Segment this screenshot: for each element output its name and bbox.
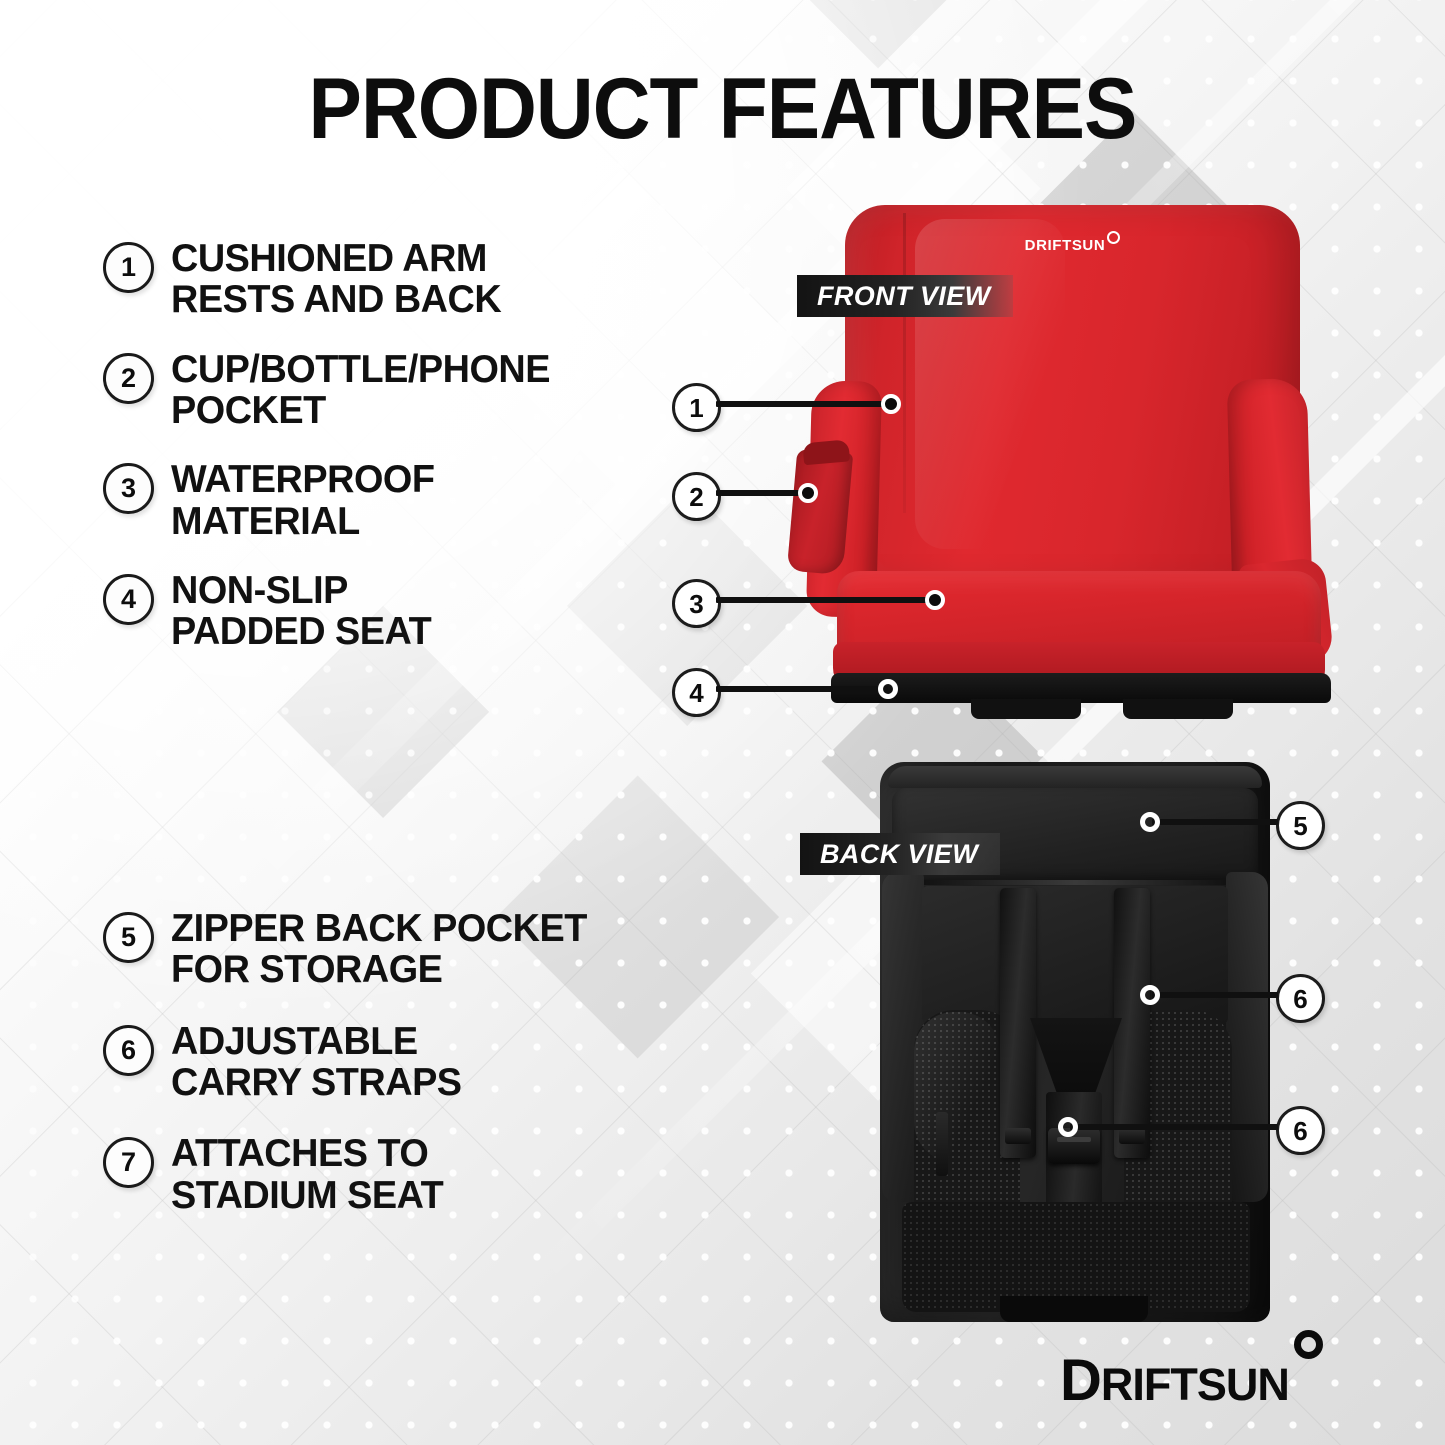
callout-endpoint-ring [1140, 812, 1160, 832]
callout-endpoint-dot [925, 590, 945, 610]
callout-leader-line [1152, 819, 1278, 825]
callout-number: 5 [1276, 801, 1325, 850]
feature-number-badge: 3 [103, 463, 154, 514]
callout-endpoint-dot [798, 483, 818, 503]
feature-label: NON-SLIP PADDED SEAT [171, 570, 431, 653]
callout-number: 6 [1276, 974, 1325, 1023]
feature-item: 7 ATTACHES TO STADIUM SEAT [103, 1133, 723, 1216]
bag-bottom-tab [1000, 1296, 1148, 1322]
callout-leader-line [716, 490, 808, 496]
bag-carry-strap-left [1000, 888, 1036, 1158]
page-title: PRODUCT FEATURES [51, 66, 1395, 152]
brand-logo-text: DRIFTSUN [1060, 1352, 1289, 1410]
bag-top-flap [888, 766, 1262, 788]
callout-endpoint-ring [878, 679, 898, 699]
brand-logo: DRIFTSUN [1060, 1352, 1323, 1410]
chair-foot [1123, 699, 1233, 719]
feature-number-badge: 5 [103, 912, 154, 963]
callout-leader-line [1152, 992, 1278, 998]
feature-label: WATERPROOF MATERIAL [171, 459, 434, 542]
feature-item: 5 ZIPPER BACK POCKET FOR STORAGE [103, 908, 723, 991]
feature-item: 6 ADJUSTABLE CARRY STRAPS [103, 1021, 723, 1104]
callout-number: 1 [672, 383, 721, 432]
infographic-canvas: PRODUCT FEATURES 1 CUSHIONED ARM RESTS A… [0, 0, 1445, 1445]
callout-leader-line [1070, 1124, 1278, 1130]
callout-leader-line [716, 401, 891, 407]
feature-list-bottom: 5 ZIPPER BACK POCKET FOR STORAGE 6 ADJUS… [103, 908, 723, 1246]
bag-side-right [1226, 872, 1268, 1202]
bag-strap-adjuster-right [1119, 1128, 1145, 1144]
feature-item: 3 WATERPROOF MATERIAL [103, 459, 703, 542]
callout-number: 4 [672, 668, 721, 717]
chair-foot [971, 699, 1081, 719]
bag-middle-panel [922, 886, 1228, 1024]
product-logo-on-chair: DRIFTSUN [845, 231, 1300, 254]
feature-number-badge: 6 [103, 1025, 154, 1076]
chair-cup-pocket [787, 449, 853, 575]
feature-item: 2 CUP/BOTTLE/PHONE POCKET [103, 349, 703, 432]
callout-endpoint-ring [1140, 985, 1160, 1005]
callout-number: 2 [672, 472, 721, 521]
callout-number: 3 [672, 579, 721, 628]
backrest-highlight [915, 219, 1065, 549]
feature-label: CUP/BOTTLE/PHONE POCKET [171, 349, 550, 432]
feature-list-top: 1 CUSHIONED ARM RESTS AND BACK 2 CUP/BOT… [103, 238, 703, 681]
bag-highlight [914, 1012, 1000, 1162]
callout-endpoint-dot [881, 394, 901, 414]
feature-label: ZIPPER BACK POCKET FOR STORAGE [171, 908, 587, 991]
product-logo-text: DRIFTSUN [1025, 237, 1106, 254]
bag-zipper-pull [936, 1112, 948, 1176]
feature-label: ATTACHES TO STADIUM SEAT [171, 1133, 443, 1216]
front-view-banner: FRONT VIEW [797, 275, 1013, 317]
feature-label: CUSHIONED ARM RESTS AND BACK [171, 238, 501, 321]
bag-strap-adjuster-left [1005, 1128, 1031, 1144]
feature-number-badge: 2 [103, 353, 154, 404]
feature-label: ADJUSTABLE CARRY STRAPS [171, 1021, 462, 1104]
callout-leader-line [716, 597, 935, 603]
back-view-banner: BACK VIEW [800, 833, 1000, 875]
feature-number-badge: 7 [103, 1137, 154, 1188]
brand-name-rest: RIFTSUN [1101, 1359, 1289, 1410]
ring-mark-icon [1107, 231, 1120, 244]
ring-mark-icon [1294, 1330, 1323, 1359]
callout-leader-line [716, 686, 888, 692]
chair-base [831, 673, 1331, 703]
brand-initial: D [1060, 1348, 1101, 1413]
feature-item: 4 NON-SLIP PADDED SEAT [103, 570, 703, 653]
callout-number: 6 [1276, 1106, 1325, 1155]
feature-item: 1 CUSHIONED ARM RESTS AND BACK [103, 238, 703, 321]
callout-endpoint-ring [1058, 1117, 1078, 1137]
bag-zipper [894, 880, 1256, 885]
feature-number-badge: 4 [103, 574, 154, 625]
feature-number-badge: 1 [103, 242, 154, 293]
